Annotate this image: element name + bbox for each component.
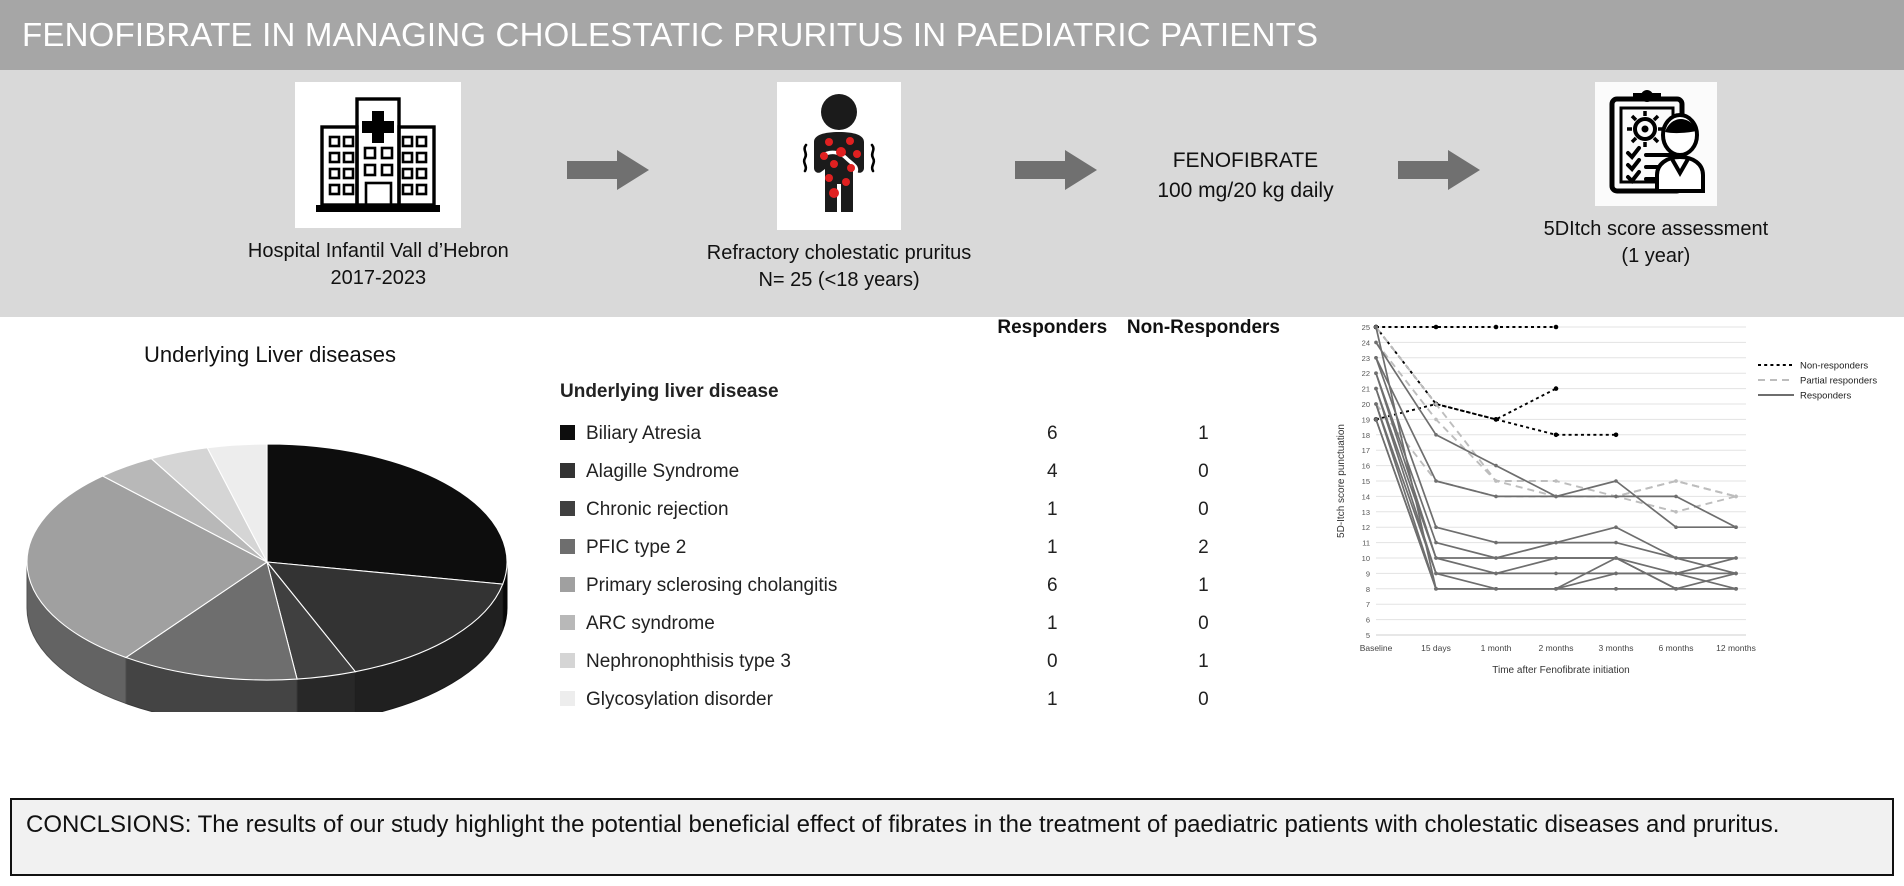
chart-data-point	[1434, 402, 1438, 406]
chart-data-point	[1434, 433, 1438, 437]
table-cell-responders: 1	[978, 605, 1127, 643]
table-cell-disease: Glycosylation disorder	[560, 681, 978, 719]
chart-legend-label: Non-responders	[1800, 361, 1868, 372]
flow-caption-line2: (1 year)	[1544, 243, 1769, 270]
chart-y-tick-label: 24	[1362, 338, 1370, 347]
chart-data-point	[1494, 495, 1498, 499]
chart-data-point	[1614, 556, 1618, 560]
chart-data-point	[1554, 479, 1558, 483]
chart-data-point	[1614, 479, 1618, 483]
chart-x-tick-label: 6 months	[1659, 643, 1694, 653]
chart-data-point	[1374, 325, 1378, 329]
flow-step-patient: Refractory cholestatic pruritus N= 25 (<…	[707, 70, 972, 294]
chart-data-point	[1554, 433, 1559, 438]
table-cell-disease-label: Alagille Syndrome	[586, 461, 739, 482]
chart-data-point	[1734, 525, 1738, 529]
chart-data-point	[1434, 541, 1438, 545]
chart-legend-label: Responders	[1800, 391, 1851, 402]
flow-caption-line1: FENOFIBRATE	[1157, 146, 1333, 176]
flow-arrow-2-icon	[1015, 150, 1097, 190]
chart-data-point	[1494, 572, 1498, 576]
table-header-non-responders: Non-Responders	[1127, 317, 1280, 373]
chart-y-tick-label: 5	[1366, 631, 1370, 640]
chart-data-point	[1554, 556, 1558, 560]
disease-breakdown-table: Responders Non-Responders Underlying liv…	[560, 317, 1280, 719]
table-cell-disease: Nephronophthisis type 3	[560, 643, 978, 681]
chart-data-point	[1674, 556, 1678, 560]
table-group-header: Underlying liver disease	[560, 373, 1280, 415]
table-cell-disease: Chronic rejection	[560, 491, 978, 529]
table-cell-non-responders: 1	[1127, 415, 1280, 453]
chart-y-tick-label: 17	[1362, 446, 1370, 455]
table-header-responders: Responders	[978, 317, 1127, 373]
legend-swatch-icon	[560, 425, 575, 440]
pie-chart-block: Underlying Liver diseases Biliary Atresi…	[0, 317, 540, 747]
chart-y-tick-label: 7	[1366, 600, 1370, 609]
chart-data-point	[1614, 495, 1618, 499]
legend-swatch-icon	[560, 463, 575, 478]
chart-data-point	[1494, 556, 1498, 560]
table-cell-non-responders: 0	[1127, 491, 1280, 529]
chart-y-tick-label: 8	[1366, 585, 1370, 594]
chart-data-point	[1494, 417, 1499, 422]
chart-data-point	[1614, 541, 1618, 545]
chart-data-point	[1374, 418, 1378, 422]
legend-swatch-icon	[560, 691, 575, 706]
chart-data-point	[1494, 479, 1498, 483]
flow-caption-line1: 5DItch score assessment	[1544, 216, 1769, 243]
chart-y-tick-label: 25	[1362, 323, 1370, 332]
chart-y-tick-label: 12	[1362, 523, 1370, 532]
chart-y-tick-label: 21	[1362, 385, 1370, 394]
chart-y-tick-label: 9	[1366, 569, 1370, 578]
chart-data-point	[1674, 479, 1678, 483]
chart-y-tick-label: 23	[1362, 354, 1370, 363]
results-content: Underlying Liver diseases Biliary Atresi…	[0, 317, 1904, 782]
chart-data-point	[1434, 587, 1438, 591]
table-cell-non-responders: 1	[1127, 567, 1280, 605]
table-cell-disease: ARC syndrome	[560, 605, 978, 643]
chart-data-point	[1434, 525, 1438, 529]
chart-data-point	[1554, 386, 1559, 391]
chart-data-point	[1434, 479, 1438, 483]
chart-y-axis-title: 5D-Itch score punctuation	[1336, 424, 1347, 538]
study-flow-band: Hospital Infantil Vall d’Hebron 2017-202…	[0, 70, 1904, 317]
table-cell-non-responders: 2	[1127, 529, 1280, 567]
table-row: ARC syndrome10	[560, 605, 1280, 643]
chart-y-tick-label: 19	[1362, 415, 1370, 424]
chart-data-point	[1494, 325, 1499, 330]
chart-y-tick-label: 10	[1362, 554, 1370, 563]
table-row: Alagille Syndrome40	[560, 453, 1280, 491]
chart-data-point	[1494, 464, 1498, 468]
chart-data-point	[1734, 587, 1738, 591]
table-row: Primary sclerosing cholangitis61	[560, 567, 1280, 605]
flow-caption-line1: Hospital Infantil Vall d’Hebron	[248, 238, 509, 265]
flow-caption-line1: Refractory cholestatic pruritus	[707, 240, 972, 267]
clipboard-assessment-icon	[1602, 89, 1710, 199]
flow-step-hospital: Hospital Infantil Vall d’Hebron 2017-202…	[248, 70, 509, 292]
hospital-icon-card	[295, 82, 461, 228]
chart-legend-label: Partial responders	[1800, 376, 1877, 387]
chart-data-point	[1374, 402, 1378, 406]
table-row: PFIC type 212	[560, 529, 1280, 567]
table-cell-disease-label: Primary sclerosing cholangitis	[586, 575, 837, 596]
chart-data-point	[1434, 325, 1439, 330]
table-cell-responders: 6	[978, 567, 1127, 605]
table-row: Chronic rejection10	[560, 491, 1280, 529]
chart-series-line: Responder 2	[1376, 358, 1736, 527]
flow-step-patient-caption: Refractory cholestatic pruritus N= 25 (<…	[707, 240, 972, 294]
chart-x-tick-label: 1 month	[1481, 643, 1512, 653]
chart-y-tick-label: 15	[1362, 477, 1370, 486]
table-cell-disease-label: ARC syndrome	[586, 613, 715, 634]
page-title: FENOFIBRATE IN MANAGING CHOLESTATIC PRUR…	[0, 16, 1318, 54]
table-cell-responders: 0	[978, 643, 1127, 681]
table-row: Glycosylation disorder10	[560, 681, 1280, 719]
pie-chart-svg: Biliary Atresia: 7Alagille Syndrome: 4Ch…	[10, 412, 525, 712]
chart-data-point	[1734, 572, 1738, 576]
flow-step-hospital-caption: Hospital Infantil Vall d’Hebron 2017-202…	[248, 238, 509, 292]
legend-swatch-icon	[560, 653, 575, 668]
legend-swatch-icon	[560, 615, 575, 630]
table-cell-disease-label: PFIC type 2	[586, 537, 686, 558]
poster-title-bar: FENOFIBRATE IN MANAGING CHOLESTATIC PRUR…	[0, 0, 1904, 70]
table-cell-responders: 1	[978, 491, 1127, 529]
chart-data-point	[1374, 356, 1378, 360]
clipboard-assessment-icon-card	[1595, 82, 1717, 206]
chart-data-point	[1554, 572, 1558, 576]
chart-data-point	[1554, 587, 1558, 591]
chart-data-point	[1734, 556, 1738, 560]
chart-data-point	[1614, 525, 1618, 529]
table-row: Nephronophthisis type 301	[560, 643, 1280, 681]
chart-data-point	[1674, 525, 1678, 529]
chart-x-tick-label: 2 months	[1539, 643, 1574, 653]
chart-data-point	[1554, 495, 1558, 499]
table-row: Biliary Atresia61	[560, 415, 1280, 453]
table-cell-non-responders: 1	[1127, 643, 1280, 681]
chart-x-tick-label: 15 days	[1421, 643, 1451, 653]
legend-swatch-icon	[560, 577, 575, 592]
chart-data-point	[1494, 541, 1498, 545]
flow-step-assessment: 5DItch score assessment (1 year)	[1544, 70, 1769, 270]
chart-data-point	[1614, 572, 1618, 576]
chart-y-tick-label: 18	[1362, 431, 1370, 440]
chart-data-point	[1674, 495, 1678, 499]
table-cell-responders: 6	[978, 415, 1127, 453]
conclusion-text: CONCLSIONS: The results of our study hig…	[26, 810, 1878, 841]
chart-data-point	[1434, 556, 1438, 560]
legend-swatch-icon	[560, 539, 575, 554]
chart-y-tick-label: 13	[1362, 508, 1370, 517]
chart-x-tick-label: 3 months	[1599, 643, 1634, 653]
table-group-header-row: Underlying liver disease	[560, 373, 1280, 415]
chart-x-tick-label: Baseline	[1360, 643, 1393, 653]
line-chart-block: 5678910111213141516171819202122232425Non…	[1330, 317, 1904, 757]
chart-data-point	[1554, 325, 1559, 330]
disease-breakdown-table-block: Responders Non-Responders Underlying liv…	[560, 317, 1280, 747]
table-cell-disease-label: Glycosylation disorder	[586, 689, 773, 710]
table-header-disease	[560, 317, 978, 373]
table-cell-non-responders: 0	[1127, 453, 1280, 491]
chart-data-point	[1374, 371, 1378, 375]
chart-y-tick-label: 16	[1362, 462, 1370, 471]
table-cell-disease-label: Nephronophthisis type 3	[586, 651, 791, 672]
flow-arrow-3-icon	[1398, 150, 1480, 190]
chart-y-tick-label: 11	[1362, 539, 1370, 548]
flow-step-assessment-caption: 5DItch score assessment (1 year)	[1544, 216, 1769, 270]
chart-data-point	[1494, 587, 1498, 591]
poster-root: FENOFIBRATE IN MANAGING CHOLESTATIC PRUR…	[0, 0, 1904, 886]
conclusion-box: CONCLSIONS: The results of our study hig…	[10, 798, 1894, 876]
pie-chart-title: Underlying Liver diseases	[0, 342, 540, 368]
flow-step-drug: FENOFIBRATE 100 mg/20 kg daily	[1157, 146, 1333, 207]
chart-x-axis-title: Time after Fenofibrate initiation	[1492, 665, 1629, 676]
table-cell-disease: Primary sclerosing cholangitis	[560, 567, 978, 605]
chart-data-point	[1434, 572, 1438, 576]
hospital-icon	[304, 91, 452, 219]
table-cell-responders: 1	[978, 529, 1127, 567]
chart-data-point	[1614, 587, 1618, 591]
chart-y-tick-label: 14	[1362, 492, 1370, 501]
table-body: Underlying liver diseaseBiliary Atresia6…	[560, 373, 1280, 719]
legend-swatch-icon	[560, 501, 575, 516]
table-cell-non-responders: 0	[1127, 681, 1280, 719]
chart-data-point	[1674, 587, 1678, 591]
pie-chart-canvas: Biliary Atresia: 7Alagille Syndrome: 4Ch…	[10, 412, 525, 712]
flow-arrow-1-icon	[567, 150, 649, 190]
chart-y-tick-label: 22	[1362, 369, 1370, 378]
chart-x-tick-label: 12 months	[1716, 643, 1756, 653]
chart-y-tick-label: 20	[1362, 400, 1370, 409]
flow-caption-line2: 2017-2023	[248, 265, 509, 292]
itchy-patient-icon	[784, 90, 894, 222]
chart-y-tick-label: 6	[1366, 616, 1370, 625]
chart-data-point	[1374, 341, 1378, 345]
itchy-patient-icon-card	[777, 82, 901, 230]
table-cell-non-responders: 0	[1127, 605, 1280, 643]
table-cell-disease-label: Biliary Atresia	[586, 423, 701, 444]
chart-data-point	[1674, 510, 1678, 514]
flow-caption-line2: 100 mg/20 kg daily	[1157, 176, 1333, 206]
chart-series-line: Responder 12	[1376, 327, 1736, 589]
chart-data-point	[1554, 541, 1558, 545]
table-cell-disease: Alagille Syndrome	[560, 453, 978, 491]
chart-data-point	[1614, 433, 1619, 438]
chart-data-point	[1674, 572, 1678, 576]
chart-data-point	[1374, 387, 1378, 391]
table-cell-disease-label: Chronic rejection	[586, 499, 729, 520]
chart-data-point	[1434, 418, 1438, 422]
chart-data-point	[1734, 495, 1738, 499]
table-cell-disease: Biliary Atresia	[560, 415, 978, 453]
table-cell-responders: 4	[978, 453, 1127, 491]
pie-slice: Biliary Atresia: 7	[267, 444, 507, 584]
table-header-row: Responders Non-Responders	[560, 317, 1280, 373]
line-chart-svg: 5678910111213141516171819202122232425Non…	[1330, 317, 1904, 757]
flow-caption-line2: N= 25 (<18 years)	[707, 267, 972, 294]
table-cell-responders: 1	[978, 681, 1127, 719]
table-cell-disease: PFIC type 2	[560, 529, 978, 567]
